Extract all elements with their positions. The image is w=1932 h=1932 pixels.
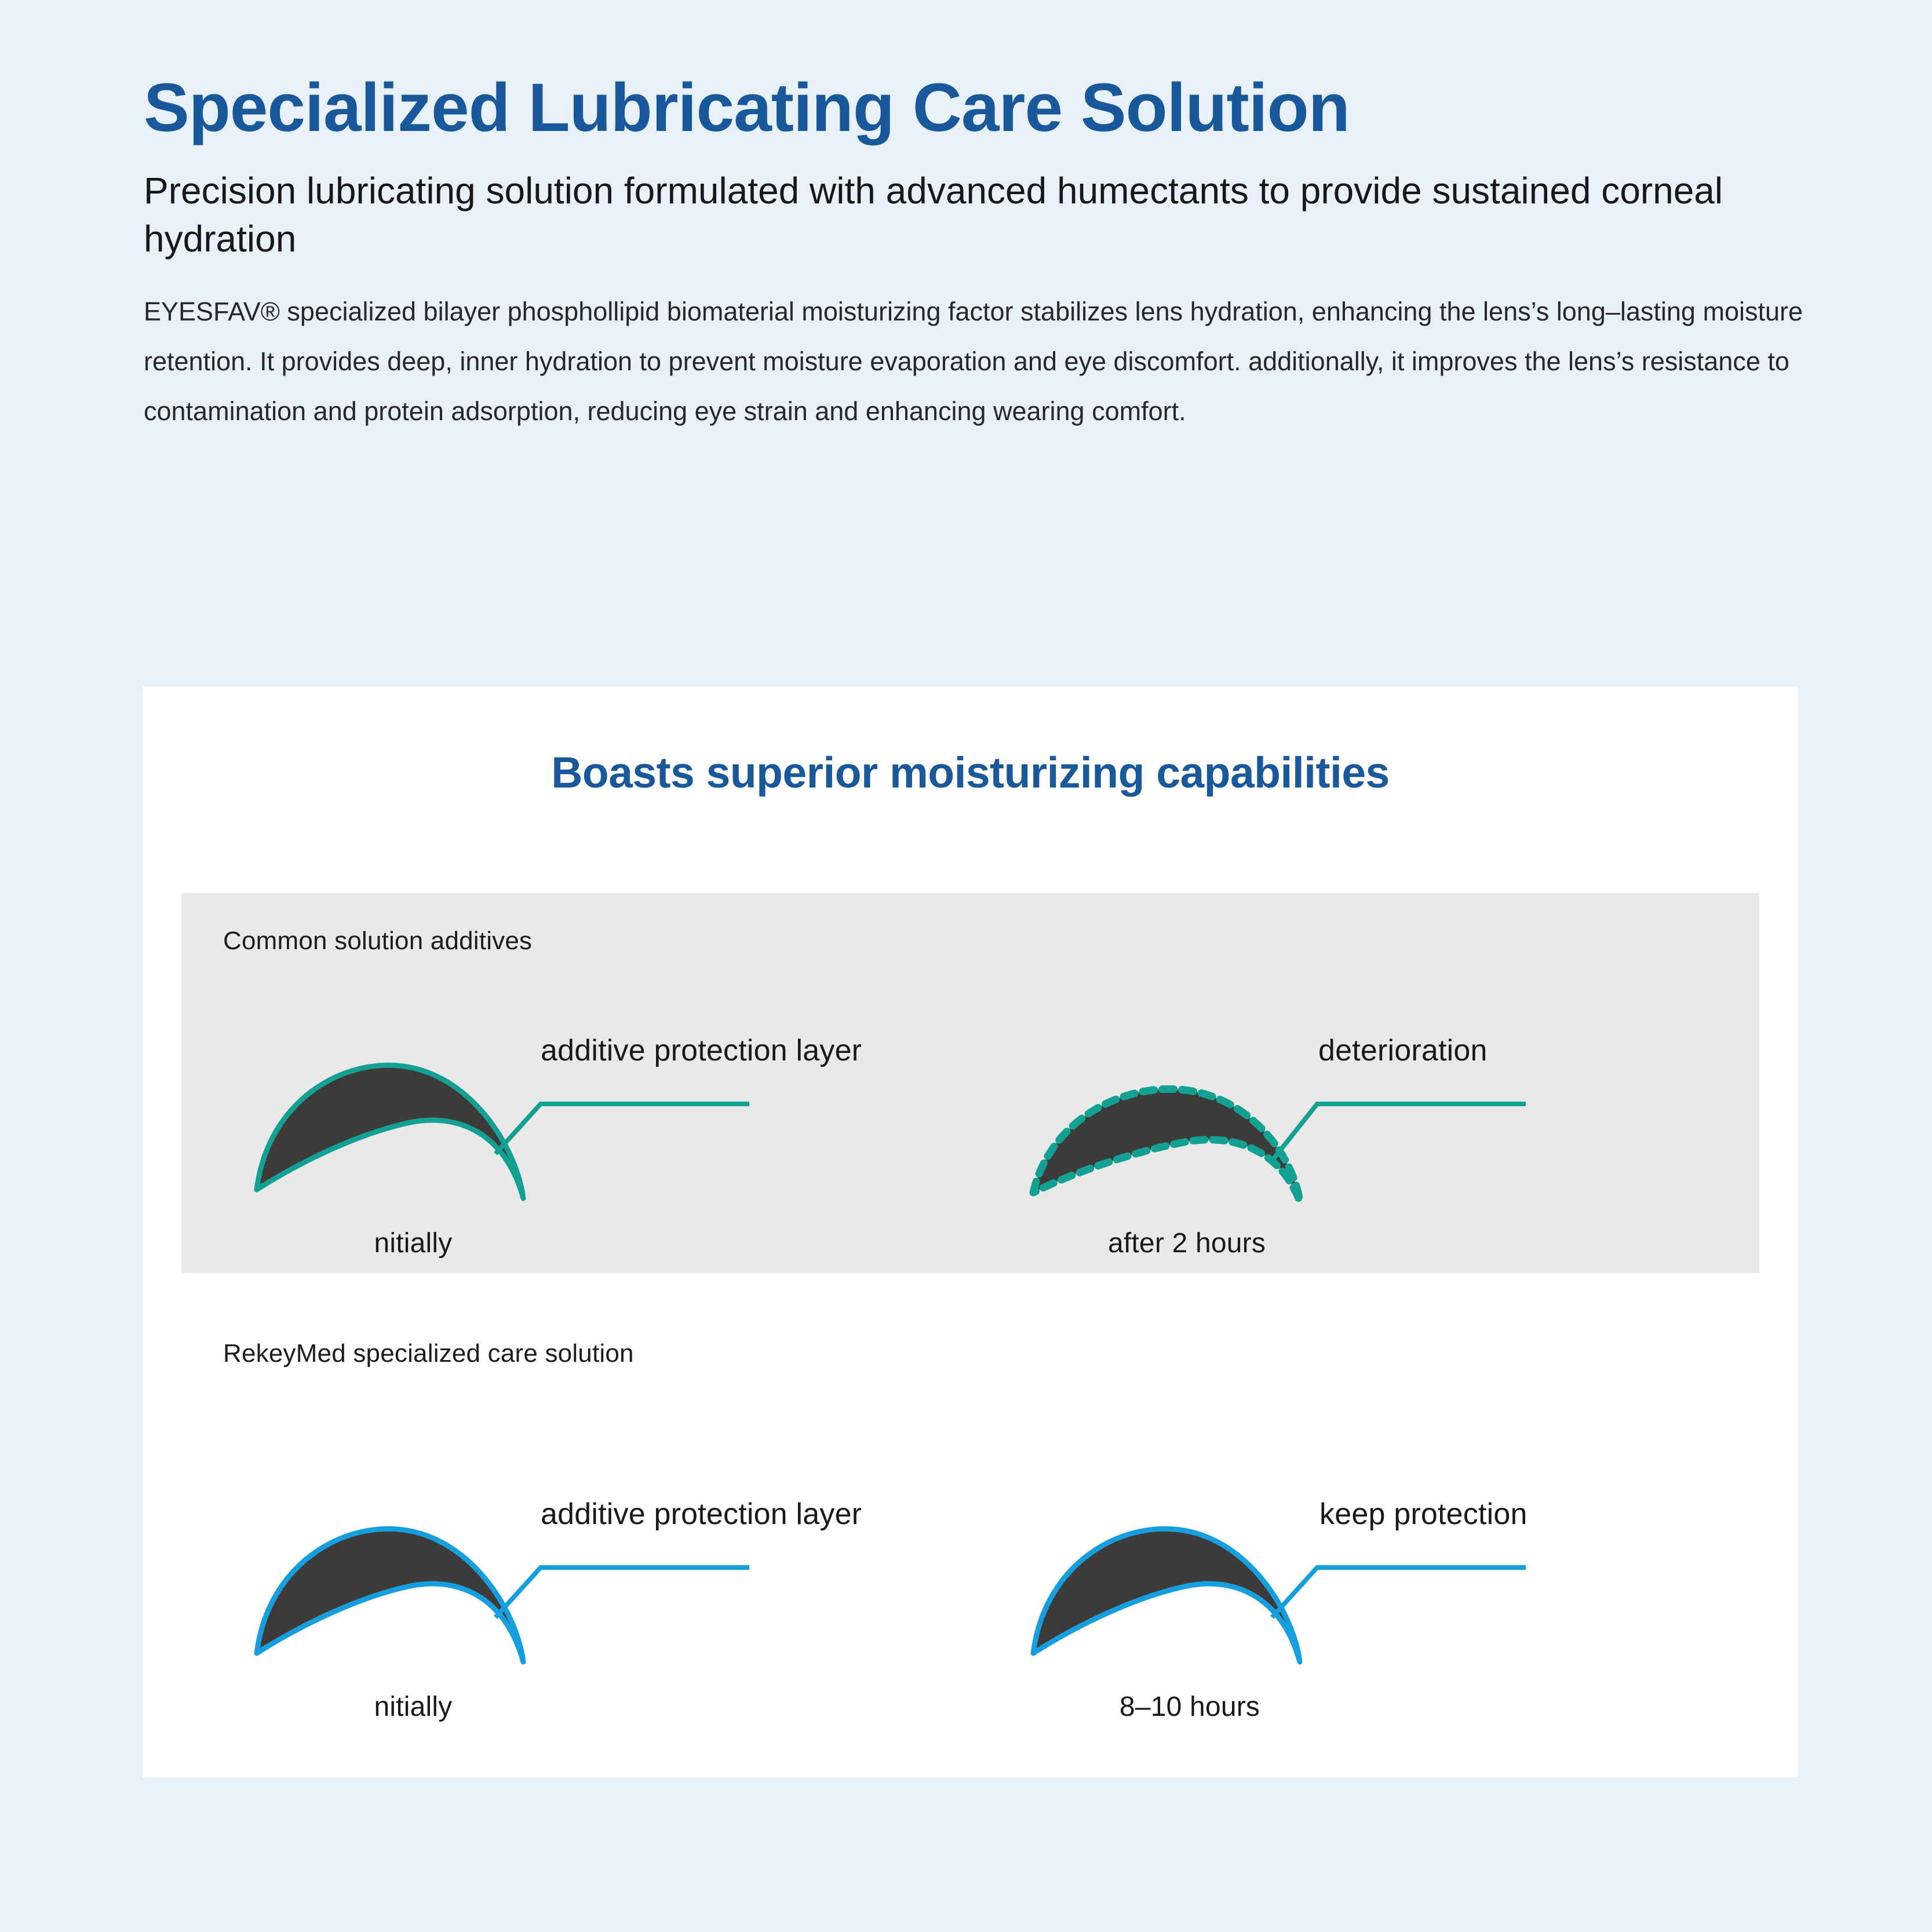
lens-body-shape bbox=[257, 1065, 523, 1198]
lens-figure-rekeymed-initial: additive protection layer nitially bbox=[234, 1462, 917, 1729]
figure-caption: nitially bbox=[297, 1691, 529, 1723]
callout-label: deterioration bbox=[1318, 1033, 1488, 1068]
lens-figure-rekeymed-sustained: keep protection 8–10 hours bbox=[1010, 1462, 1694, 1729]
callout-leader-line bbox=[1270, 1104, 1526, 1164]
figure-caption: nitially bbox=[297, 1227, 529, 1259]
panel-rekeymed-solution: RekeyMed specialized care solution addit… bbox=[181, 1306, 1759, 1746]
lens-body-shape-deteriorated bbox=[1033, 1089, 1300, 1201]
figure-caption: after 2 hours bbox=[1065, 1227, 1308, 1259]
callout-leader-line bbox=[495, 1568, 749, 1617]
panel-common-solution: Common solution additives additive prote… bbox=[181, 893, 1759, 1273]
page-root: Specialized Lubricating Care Solution Pr… bbox=[0, 0, 1932, 1932]
figure-caption: 8–10 hours bbox=[1068, 1691, 1311, 1723]
callout-leader-line bbox=[1272, 1568, 1526, 1617]
header-block: Specialized Lubricating Care Solution Pr… bbox=[144, 70, 1813, 437]
callout-label: additive protection layer bbox=[541, 1497, 862, 1532]
callout-label: additive protection layer bbox=[541, 1033, 862, 1068]
callout-leader-line bbox=[495, 1104, 749, 1154]
page-subtitle: Precision lubricating solution formulate… bbox=[144, 167, 1813, 263]
lens-figure-common-initial: additive protection layer nitially bbox=[234, 998, 917, 1265]
lens-body-shape bbox=[257, 1529, 523, 1662]
card-title: Boasts superior moisturizing capabilitie… bbox=[143, 748, 1798, 797]
panel-label: Common solution additives bbox=[223, 927, 532, 956]
callout-label: keep protection bbox=[1319, 1497, 1528, 1532]
panel-label: RekeyMed specialized care solution bbox=[223, 1339, 634, 1368]
lens-figure-common-degraded: deterioration after 2 hours bbox=[1010, 998, 1694, 1265]
page-body-paragraph: EYESFAV® specialized bilayer phosphollip… bbox=[144, 287, 1813, 437]
comparison-card: Boasts superior moisturizing capabilitie… bbox=[143, 687, 1798, 1777]
lens-body-shape bbox=[1033, 1529, 1300, 1662]
page-title: Specialized Lubricating Care Solution bbox=[144, 70, 1813, 146]
